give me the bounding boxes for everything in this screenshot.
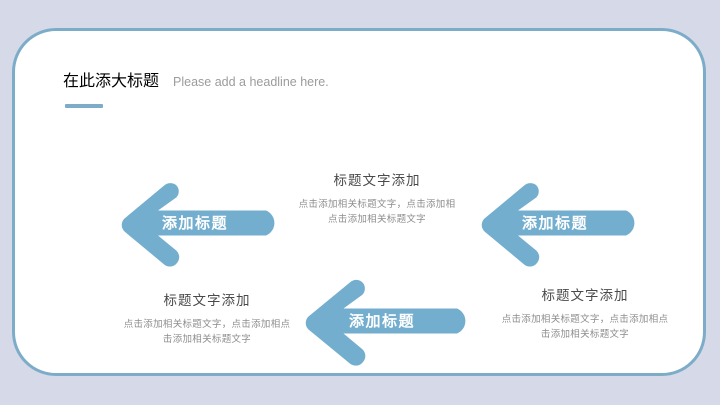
page-title: 在此添大标题	[63, 67, 159, 91]
slide-card: 在此添大标题 Please add a headline here. 添加标题 …	[12, 28, 706, 376]
text-block-right-title: 标题文字添加	[497, 289, 673, 303]
title-underline-rule	[65, 104, 103, 108]
text-block-center-title: 标题文字添加	[297, 174, 457, 188]
page-subtitle: Please add a headline here.	[173, 76, 329, 89]
arrow-shape-top-left[interactable]: 添加标题	[118, 180, 281, 268]
arrow-label-bottom: 添加标题	[349, 314, 415, 329]
arrow-label-top-right: 添加标题	[522, 216, 588, 231]
arrow-shape-bottom[interactable]: 添加标题	[302, 277, 472, 367]
text-block-left-body: 点击添加相关标题文字，点击添加相点击添加相关标题文字	[119, 317, 295, 348]
arrow-label-top-left: 添加标题	[162, 216, 228, 231]
text-block-right-body: 点击添加相关标题文字，点击添加相点击添加相关标题文字	[497, 312, 673, 343]
text-block-center: 标题文字添加 点击添加相关标题文字，点击添加相点击添加相关标题文字	[297, 174, 457, 228]
text-block-center-body: 点击添加相关标题文字，点击添加相点击添加相关标题文字	[297, 197, 457, 228]
arrow-shape-top-right[interactable]: 添加标题	[478, 180, 641, 268]
text-block-right: 标题文字添加 点击添加相关标题文字，点击添加相点击添加相关标题文字	[497, 289, 673, 343]
slide-header: 在此添大标题 Please add a headline here.	[63, 67, 329, 91]
text-block-left-title: 标题文字添加	[119, 294, 295, 308]
text-block-left: 标题文字添加 点击添加相关标题文字，点击添加相点击添加相关标题文字	[119, 294, 295, 348]
